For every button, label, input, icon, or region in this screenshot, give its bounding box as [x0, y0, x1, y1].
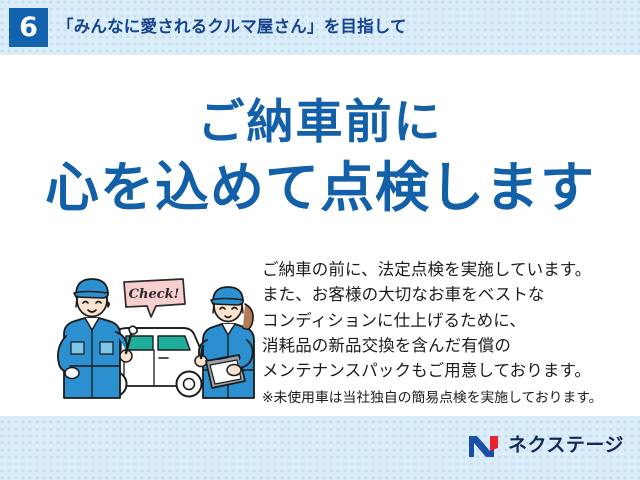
footer: ネクステージ [0, 416, 640, 480]
header-title: 「みんなに愛されるクルマ屋さん」を目指して [57, 13, 407, 37]
body-line: ご納車の前に、法定点検を実施しています。 [262, 258, 632, 283]
brand-name: ネクステージ [508, 436, 624, 456]
body-line: 消耗品の新品交換を含んだ有償の [262, 334, 632, 359]
page-title: ご納車前に 心を込めて点検します [0, 93, 640, 223]
svg-text:Check!: Check! [129, 287, 180, 302]
body-line: コンディションに仕上げるために、 [262, 309, 632, 334]
check-speech-bubble: Check! [124, 279, 185, 317]
body-footnote: ※未使用車は当社独自の簡易点検を実施しております。 [262, 387, 632, 409]
brand-logo: ネクステージ [468, 434, 624, 458]
header: 6 「みんなに愛されるクルマ屋さん」を目指して [0, 0, 640, 55]
body-copy: ご納車の前に、法定点検を実施しています。 また、お客様の大切なお車をベストな コ… [262, 258, 632, 409]
headline-line-2: 心を込めて点検します [0, 153, 640, 223]
promo-slide: 6 「みんなに愛されるクルマ屋さん」を目指して ご納車前に 心を込めて点検します… [0, 0, 640, 480]
headline-line-1: ご納車前に [0, 93, 640, 153]
nextage-n-logo-icon [468, 434, 502, 458]
body-line: メンテナンスパックもご用意しております。 [262, 359, 632, 384]
mechanic-right [195, 287, 254, 398]
step-number-badge: 6 [9, 8, 48, 47]
mechanics-illustration: Check! [55, 260, 260, 400]
body-line: また、お客様の大切なお車をベストな [262, 283, 632, 308]
content-panel: ご納車前に 心を込めて点検します ご納車の前に、法定点検を実施しています。 また… [0, 55, 640, 416]
